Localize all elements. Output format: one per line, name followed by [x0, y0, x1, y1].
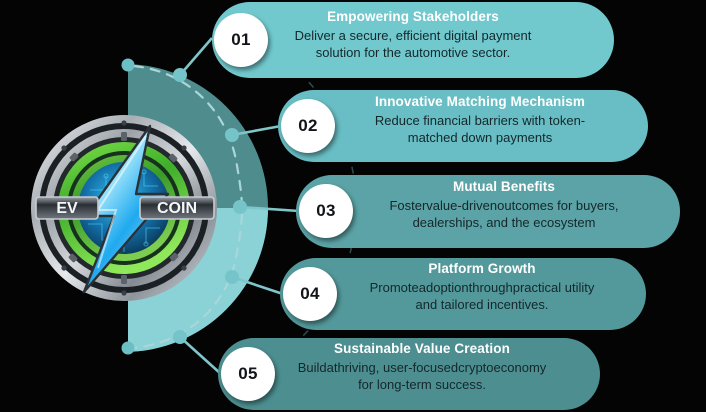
connector-line-5 — [180, 337, 221, 374]
arc-node-dot-2 — [225, 128, 239, 142]
step-text-4: Platform Growth Promoteadoptionthroughpr… — [336, 261, 628, 313]
step-body-5-line-2: for long-term success. — [272, 376, 572, 393]
step-title-2: Innovative Matching Mechanism — [332, 94, 628, 110]
coin-label-coin: COIN — [140, 197, 214, 219]
arc-node-dot-1 — [173, 68, 187, 82]
step-body-1-line-2: solution for the automotive sector. — [268, 44, 558, 61]
arc-node-dot-4 — [225, 270, 239, 284]
step-title-3: Mutual Benefits — [348, 179, 660, 195]
ev-coin-logo: EV COIN — [28, 112, 220, 304]
step-text-1: Empowering Stakeholders Deliver a secure… — [268, 9, 558, 61]
step-badge-5[interactable]: 05 — [221, 347, 275, 401]
step-body-1-line-1: Deliver a secure, efficient digital paym… — [268, 27, 558, 44]
step-body-3-line-1: Fostervalue-drivenoutcomes for buyers, — [348, 197, 660, 214]
arc-end-dot-bottom — [122, 342, 135, 355]
arc-end-dot-top — [122, 59, 135, 72]
arc-node-dot-5 — [173, 330, 187, 344]
infographic-canvas: EV COIN Empowering Stakeholders Deliver … — [0, 0, 706, 412]
step-title-4: Platform Growth — [336, 261, 628, 277]
step-body-3-line-2: dealerships, and the ecosystem — [348, 214, 660, 231]
step-body-4-line-1: Promoteadoptionthroughpractical utility — [336, 279, 628, 296]
step-text-2: Innovative Matching Mechanism Reduce fin… — [332, 94, 628, 146]
coin-ev-text: EV — [56, 200, 78, 217]
step-body-5-line-1: Buildathriving, user-focusedcryptoeconom… — [272, 359, 572, 376]
step-text-3: Mutual Benefits Fostervalue-drivenoutcom… — [348, 179, 660, 231]
coin-label-ev: EV — [36, 197, 98, 219]
step-body-2-line-1: Reduce financial barriers with token- — [332, 112, 628, 129]
arc-node-dot-3 — [233, 200, 247, 214]
step-badge-1[interactable]: 01 — [214, 13, 268, 67]
connector-line-1 — [180, 38, 212, 75]
step-badge-4[interactable]: 04 — [283, 267, 337, 321]
step-badge-2[interactable]: 02 — [281, 99, 335, 153]
step-title-5: Sustainable Value Creation — [272, 341, 572, 357]
step-title-1: Empowering Stakeholders — [268, 9, 558, 25]
step-body-2-line-2: matched down payments — [332, 129, 628, 146]
step-body-4-line-2: and tailored incentives. — [336, 296, 628, 313]
step-text-5: Sustainable Value Creation Buildathrivin… — [272, 341, 572, 393]
coin-coin-text: COIN — [157, 200, 197, 217]
step-badge-3[interactable]: 03 — [299, 184, 353, 238]
